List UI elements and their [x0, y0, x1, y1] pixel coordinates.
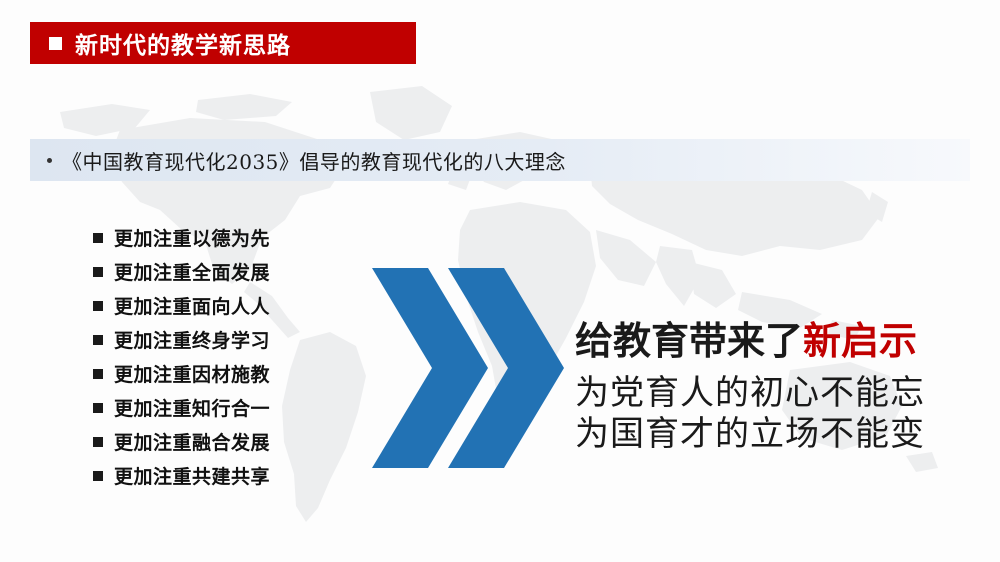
page-title: 新时代的教学新思路 — [75, 26, 291, 60]
list-item-label: 更加注重融合发展 — [114, 428, 270, 455]
list-item: 更加注重全面发展 — [93, 255, 353, 288]
banner-text: 《中国教育现代化2035》倡导的教育现代化的八大理念 — [62, 146, 566, 175]
list-item: 更加注重面向人人 — [93, 289, 353, 322]
list-item: 更加注重共建共享 — [93, 459, 353, 492]
list-item-label: 更加注重共建共享 — [114, 462, 270, 489]
list-item: 更加注重知行合一 — [93, 391, 353, 424]
square-bullet-icon — [93, 437, 103, 447]
square-bullet-icon — [49, 37, 62, 50]
list-item: 更加注重因材施教 — [93, 357, 353, 390]
list-item-label: 更加注重因材施教 — [114, 360, 270, 387]
concept-list: 更加注重以德为先 更加注重全面发展 更加注重面向人人 更加注重终身学习 更加注重… — [93, 221, 353, 493]
square-bullet-icon — [93, 233, 103, 243]
list-item: 更加注重终身学习 — [93, 323, 353, 356]
list-item-label: 更加注重终身学习 — [114, 326, 270, 353]
slide-canvas: 新时代的教学新思路 《中国教育现代化2035》倡导的教育现代化的八大理念 更加注… — [0, 0, 1000, 562]
headline-red-text: 新启示 — [803, 319, 917, 363]
subline-2: 为国育才的立场不能变 — [575, 414, 975, 455]
list-item-label: 更加注重以德为先 — [114, 224, 270, 251]
double-chevron-right-icon — [370, 268, 565, 468]
square-bullet-icon — [93, 403, 103, 413]
square-bullet-icon — [93, 369, 103, 379]
slide-title-bar: 新时代的教学新思路 — [30, 22, 416, 64]
banner-bullet-row: 《中国教育现代化2035》倡导的教育现代化的八大理念 — [30, 139, 970, 181]
list-item: 更加注重以德为先 — [93, 221, 353, 254]
list-item-label: 更加注重全面发展 — [114, 258, 270, 285]
square-bullet-icon — [93, 267, 103, 277]
headline: 给教育带来了新启示 — [575, 320, 975, 363]
square-bullet-icon — [93, 335, 103, 345]
round-bullet-icon — [47, 158, 52, 163]
list-item: 更加注重融合发展 — [93, 425, 353, 458]
square-bullet-icon — [93, 471, 103, 481]
headline-dark-text: 给教育带来了 — [575, 319, 803, 363]
list-item-label: 更加注重面向人人 — [114, 292, 270, 319]
subline-1: 为党育人的初心不能忘 — [575, 373, 975, 414]
square-bullet-icon — [93, 301, 103, 311]
list-item-label: 更加注重知行合一 — [114, 394, 270, 421]
right-message-block: 给教育带来了新启示 为党育人的初心不能忘 为国育才的立场不能变 — [575, 320, 975, 455]
